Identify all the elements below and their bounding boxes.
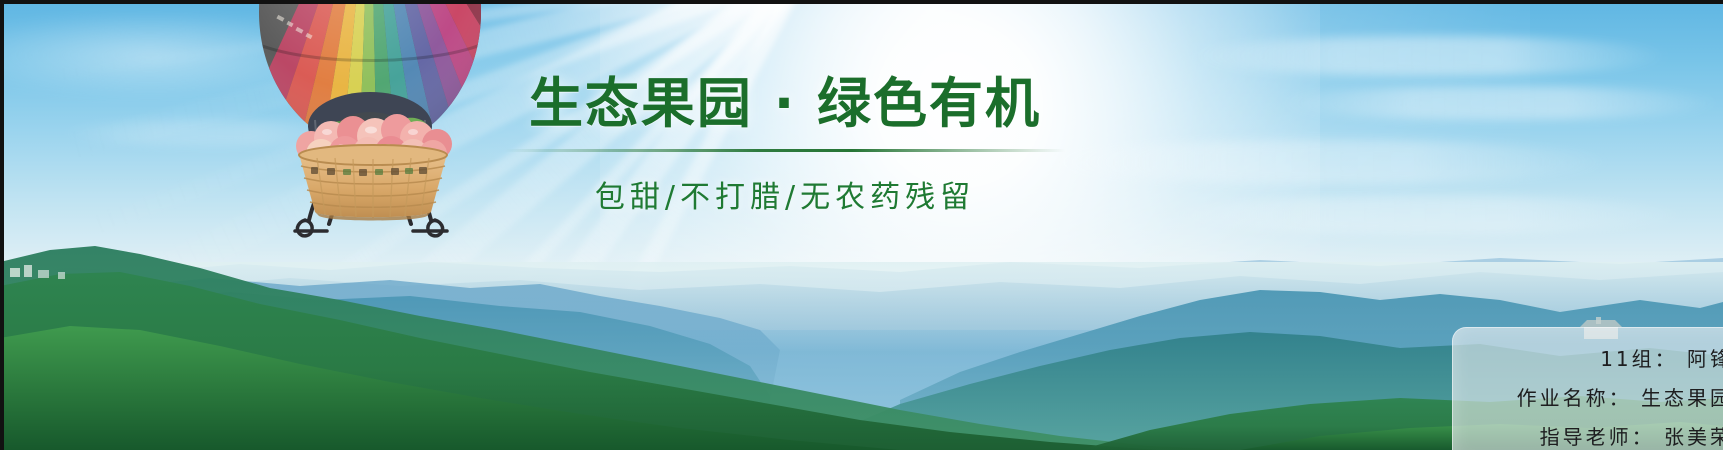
- frame-top-edge: [0, 0, 1723, 4]
- page-subtitle: 包甜/不打腊/无农药残留: [440, 172, 1130, 216]
- peach-basket: [293, 112, 453, 222]
- info-line-group: 11组： 阿锋: [1467, 340, 1723, 379]
- info-line-assignment: 作业名称： 生态果园: [1467, 379, 1723, 418]
- info-line-instructor: 指导老师： 张美荣: [1467, 418, 1723, 450]
- title-block: 生态果园 · 绿色有机 包甜/不打腊/无农药残留: [440, 76, 1130, 216]
- title-divider: [505, 149, 1065, 152]
- page-title: 生态果园 · 绿色有机: [440, 76, 1130, 133]
- info-panel: 11组： 阿锋 作业名称： 生态果园 指导老师： 张美荣: [1452, 327, 1723, 450]
- frame-left-edge: [0, 0, 4, 450]
- banner-root: 生态果园 · 绿色有机 包甜/不打腊/无农药残留 11组： 阿锋 作业名称： 生…: [0, 0, 1723, 450]
